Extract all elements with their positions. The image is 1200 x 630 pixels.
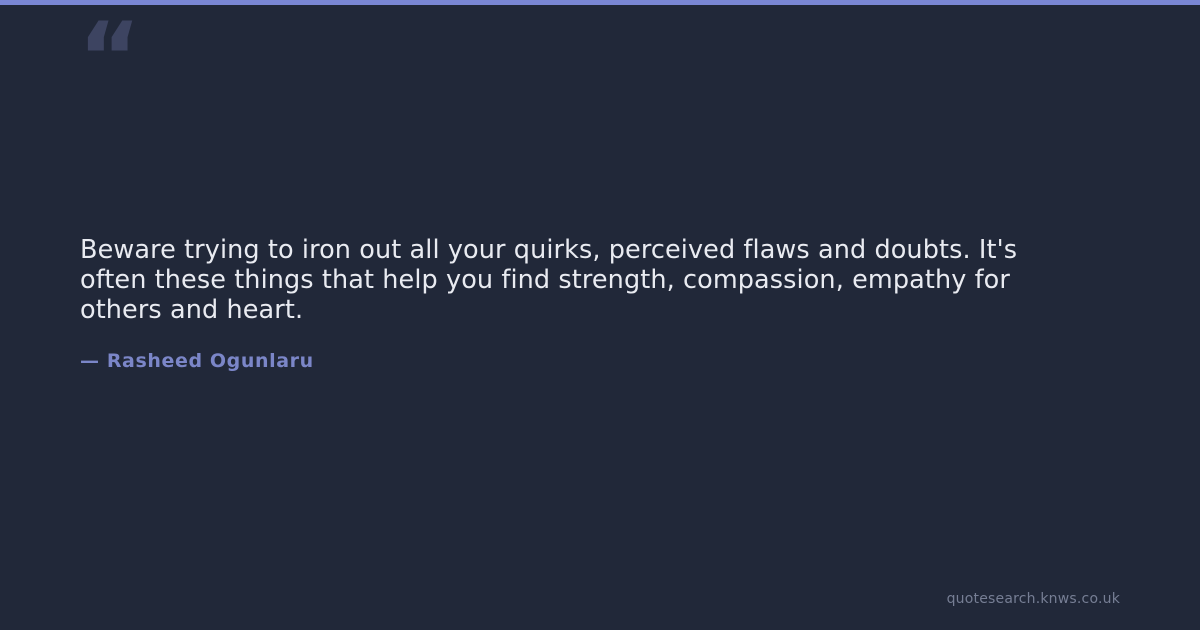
quote-card: “ Beware trying to iron out all your qui… — [0, 0, 1200, 630]
opening-quote-mark-icon: “ — [78, 10, 139, 106]
author-em-dash: — — [80, 350, 100, 372]
quote-author: — Rasheed Ogunlaru — [80, 349, 314, 373]
author-name-text: Rasheed Ogunlaru — [107, 350, 314, 372]
top-accent-bar — [0, 0, 1200, 5]
source-watermark: quotesearch.knws.co.uk — [947, 590, 1120, 608]
author-name — [100, 350, 107, 372]
quote-text: Beware trying to iron out all your quirk… — [80, 235, 1060, 325]
